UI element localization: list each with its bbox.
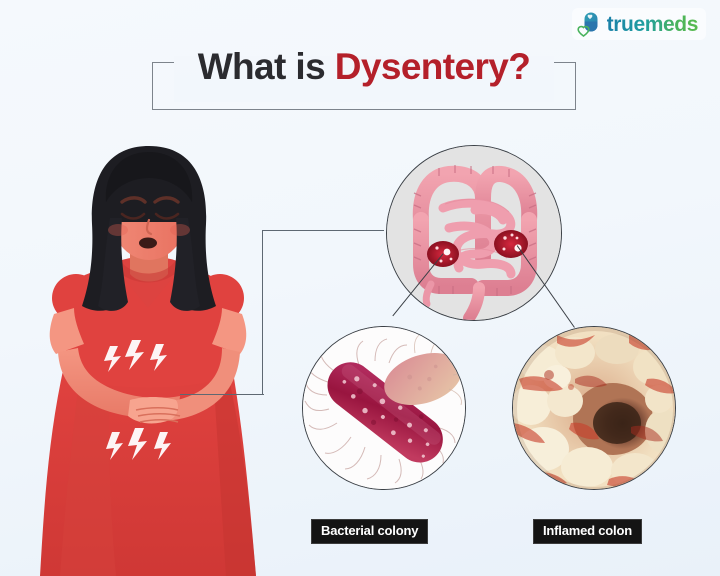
intestine-figure <box>386 145 562 321</box>
inflamed-colon-figure <box>512 326 676 490</box>
title-accent: Dysentery? <box>335 46 531 87</box>
page-title: What is Dysentery? <box>152 62 576 110</box>
bacterial-colony-figure <box>302 326 466 490</box>
infographic-poster: Bacterial colony Inflamed colon What is … <box>0 0 720 576</box>
caption-bacterial-colony: Bacterial colony <box>311 519 428 544</box>
brand-name: truemeds <box>607 14 698 35</box>
title-text: What is Dysentery? <box>152 48 576 85</box>
patient-illustration <box>18 138 280 576</box>
caption-inflamed-colon: Inflamed colon <box>533 519 642 544</box>
brand-logo[interactable]: truemeds <box>572 8 706 40</box>
capsule-heart-icon <box>577 11 601 37</box>
title-plain: What is <box>198 46 335 87</box>
